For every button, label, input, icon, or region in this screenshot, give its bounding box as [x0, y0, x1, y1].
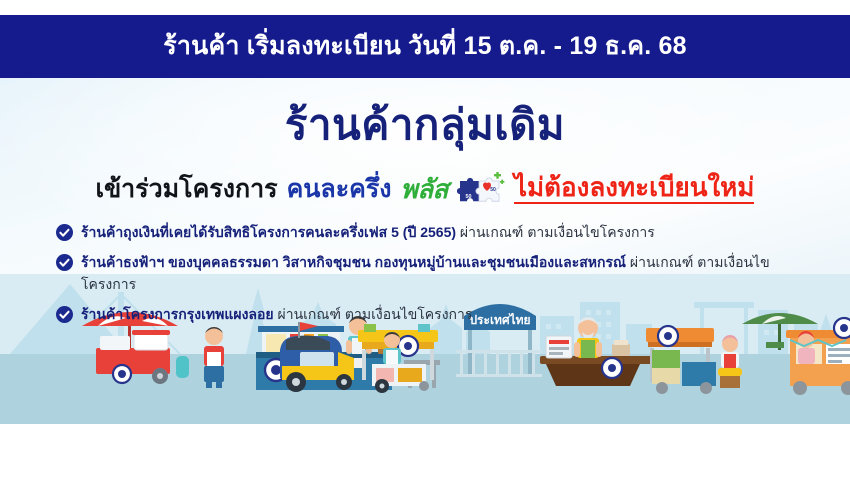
header-band: ร้านค้า เริ่มลงทะเบียน วันที่ 15 ต.ค. - … [0, 15, 850, 78]
bottom-white-strip [0, 424, 850, 478]
check-circle-icon [56, 254, 73, 271]
list-item-tail: ผ่านเกณฑ์ ตามเงื่อนไขโครงการ [274, 306, 473, 322]
list-item-text: ร้านค้าถุงเงินที่เคยได้รับสิทธิโครงการคน… [81, 222, 655, 243]
list-item-highlight: ร้านค้าโครงการกรุงเทพแผงลอย [81, 306, 274, 322]
svg-text:50: 50 [465, 194, 471, 200]
eligibility-list: ร้านค้าถุงเงินที่เคยได้รับสิทธิโครงการคน… [56, 222, 816, 334]
content-area: FAO [0, 78, 850, 424]
top-white-strip [0, 0, 850, 15]
svg-text:50: 50 [490, 187, 496, 193]
subtitle-program-suffix: พลัส [400, 176, 447, 202]
list-item-highlight: ร้านค้าถุงเงินที่เคยได้รับสิทธิโครงการคน… [81, 224, 456, 240]
check-circle-icon [56, 306, 73, 323]
list-item: ร้านค้าโครงการกรุงเทพแผงลอย ผ่านเกณฑ์ ตา… [56, 304, 816, 325]
yellow-food-cart [358, 324, 438, 393]
list-item: ร้านค้าถุงเงินที่เคยได้รับสิทธิโครงการคน… [56, 222, 816, 243]
poster-root: ร้านค้า เริ่มลงทะเบียน วันที่ 15 ต.ค. - … [0, 0, 850, 478]
svg-text:FAO: FAO [144, 337, 159, 344]
check-circle-icon [56, 224, 73, 241]
list-item-tail: ผ่านเกณฑ์ ตามเงื่อนไขโครงการ [456, 224, 655, 240]
list-item-text: ร้านค้าโครงการกรุงเทพแผงลอย ผ่านเกณฑ์ ตา… [81, 304, 472, 325]
no-registration-required-text: ไม่ต้องลงทะเบียนใหม่ [514, 174, 755, 204]
header-title: ร้านค้า เริ่มลงทะเบียน วันที่ 15 ต.ค. - … [163, 34, 686, 59]
subtitle-line: เข้าร่วมโครงการ คนละครึ่ง พลัส 50 [0, 172, 850, 206]
list-item-text: ร้านค้าธงฟ้าฯ ของบุคคลธรรมดา วิสาหกิจชุม… [81, 252, 816, 295]
vendor-with-apron [204, 327, 224, 388]
list-item: ร้านค้าธงฟ้าฯ ของบุคคลธรรมดา วิสาหกิจชุม… [56, 252, 816, 295]
khonlakhrueng-plus-puzzle-logo: 50 50 [457, 172, 505, 206]
page-title: ร้านค้ากลุ่มเดิม [0, 104, 850, 146]
subtitle-program-name: คนละครึ่ง [287, 177, 392, 202]
subtitle-join-text: เข้าร่วมโครงการ [96, 177, 278, 202]
orange-awning-stall [646, 326, 742, 394]
list-item-highlight: ร้านค้าธงฟ้าฯ ของบุคคลธรรมดา วิสาหกิจชุม… [81, 254, 626, 270]
